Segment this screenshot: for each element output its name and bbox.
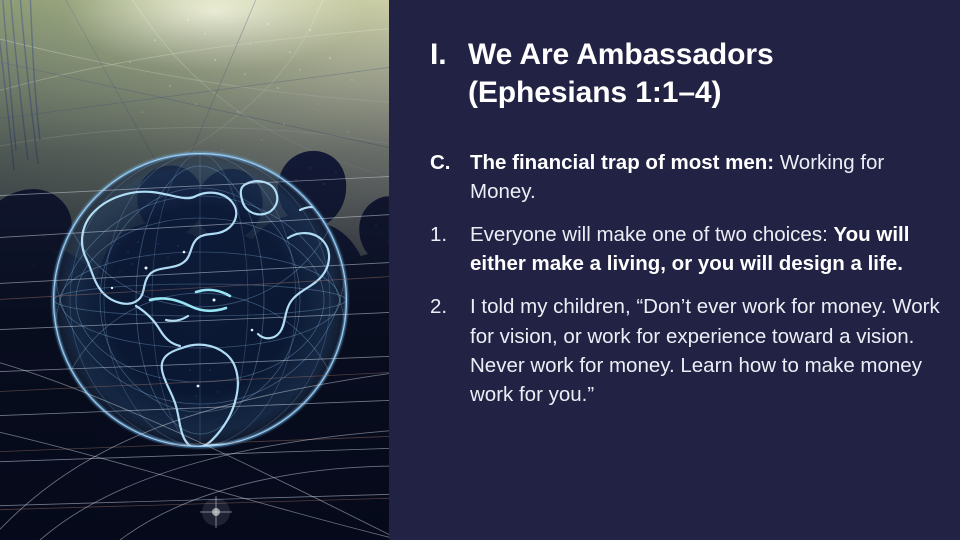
list-content-2: I told my children, “Don’t ever work for… [470,292,945,408]
list-marker-1: 1. [430,220,470,249]
globe-network-illustration [0,0,389,540]
list-content-c: The financial trap of most men: Working … [470,148,945,206]
list-item: C. The financial trap of most men: Worki… [430,148,945,206]
regular-phrase: Everyone will make one of two choices: [470,223,833,246]
slide-image [0,0,389,540]
slide-content: I. We Are Ambassadors (Ephesians 1:1–4) … [389,0,960,540]
title-line-2: (Ephesians 1:1–4) [468,74,940,112]
title-text: We Are Ambassadors [468,36,940,74]
list-item: 1. Everyone will make one of two choices… [430,220,945,278]
list-marker-2: 2. [430,292,470,321]
list-item: 2. I told my children, “Don’t ever work … [430,292,945,408]
slide-title: I. We Are Ambassadors (Ephesians 1:1–4) [430,36,940,113]
presentation-slide: I. We Are Ambassadors (Ephesians 1:1–4) … [0,0,960,540]
title-marker: I. [430,36,468,74]
list-content-1: Everyone will make one of two choices: Y… [470,220,945,278]
title-line-1: I. We Are Ambassadors [430,36,940,74]
bold-phrase: The financial trap of most men: [470,151,774,174]
slide-body: C. The financial trap of most men: Worki… [430,148,945,409]
list-marker-c: C. [430,148,470,177]
